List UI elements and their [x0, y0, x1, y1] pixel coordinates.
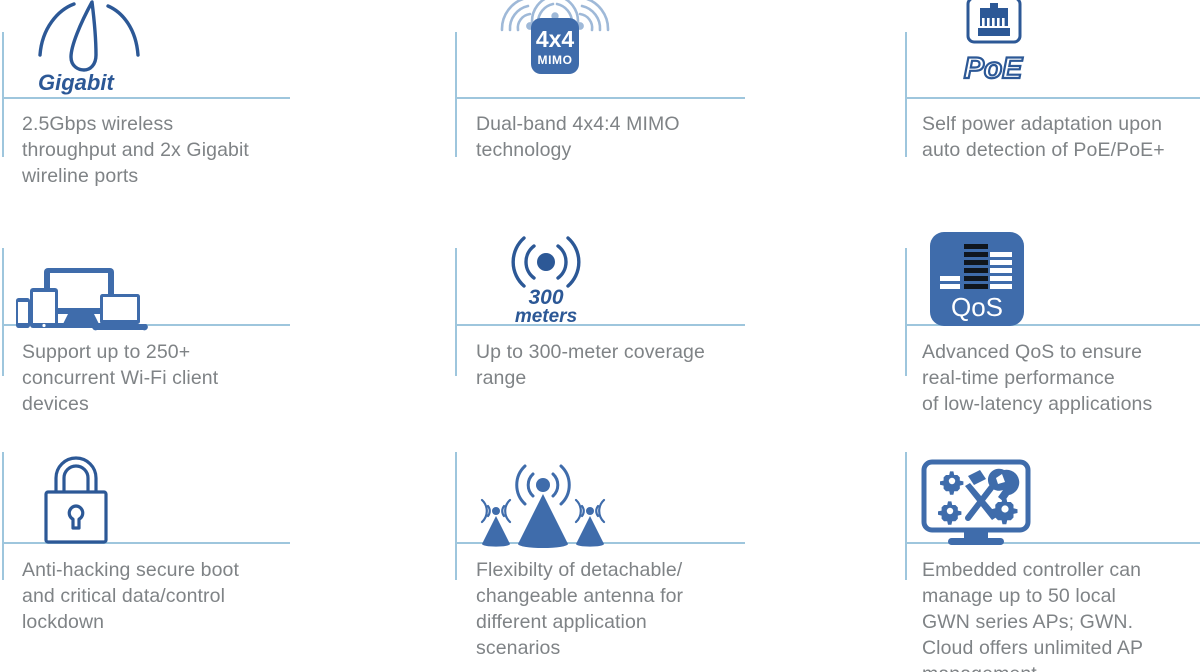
padlock-icon-area [36, 440, 116, 548]
qos-icon-label: QoS [951, 292, 1003, 322]
multi-devices-icon [16, 266, 148, 336]
feature-description: Dual-band 4x4:4 MIMO technology [476, 112, 680, 164]
mimo-icon-label: 4x4 [536, 26, 575, 52]
divider-vertical [2, 32, 4, 157]
divider-vertical [455, 452, 457, 580]
feature-description: Self power adaptation upon auto detectio… [922, 112, 1165, 164]
feature-description: Flexibilty of detachable/ changeable ant… [476, 558, 683, 662]
feature-card-gigabit: Gigabit 2.5Gbps wireless throughput and … [0, 0, 440, 210]
feature-card-controller: Embedded controller can manage up to 50 … [890, 430, 1200, 672]
feature-card-security: Anti-hacking secure boot and critical da… [0, 430, 440, 672]
padlock-icon [36, 452, 116, 548]
feature-description: 2.5Gbps wireless throughput and 2x Gigab… [22, 112, 249, 190]
divider-vertical [905, 32, 907, 157]
divider-horizontal [2, 97, 290, 99]
poe-icon-area: PoE [940, 0, 1050, 86]
qos-icon-area: QoS [930, 218, 1024, 326]
poe-icon-label: PoE [964, 52, 1023, 85]
poe-icon: PoE [940, 0, 1050, 86]
divider-vertical [905, 452, 907, 580]
qos-icon: QoS [930, 232, 1024, 326]
feature-card-poe: PoE Self power adaptation upon auto dete… [890, 0, 1200, 210]
divider-horizontal [455, 97, 745, 99]
antenna-array-icon [470, 456, 616, 552]
feature-grid: Gigabit 2.5Gbps wireless throughput and … [0, 0, 1200, 672]
gigabit-icon-area: Gigabit [30, 0, 148, 92]
coverage-icon-sublabel: meters [515, 306, 577, 327]
antenna-icon-area [470, 444, 616, 552]
divider-vertical [2, 248, 4, 376]
gigabit-icon: Gigabit [30, 0, 148, 92]
feature-description: Advanced QoS to ensure real-time perform… [922, 340, 1152, 418]
mimo-icon-sublabel: MIMO [537, 53, 572, 67]
feature-description: Up to 300-meter coverage range [476, 340, 705, 392]
coverage-icon-area: 300 meters [490, 218, 602, 326]
feature-description: Anti-hacking secure boot and critical da… [22, 558, 239, 636]
multi-devices-icon-area [16, 228, 148, 336]
feature-card-antenna: Flexibilty of detachable/ changeable ant… [440, 430, 890, 672]
gigabit-icon-label: Gigabit [38, 70, 115, 95]
feature-card-client-devices: Support up to 250+ concurrent Wi-Fi clie… [0, 210, 440, 430]
divider-vertical [905, 248, 907, 376]
divider-horizontal [905, 97, 1200, 99]
feature-description: Support up to 250+ concurrent Wi-Fi clie… [22, 340, 218, 418]
divider-vertical [2, 452, 4, 580]
mimo-icon-area: 4x4 MIMO [490, 0, 620, 88]
mimo-4x4-icon: 4x4 MIMO [490, 0, 620, 88]
divider-vertical [455, 32, 457, 157]
controller-monitor-icon [920, 458, 1032, 550]
feature-description: Embedded controller can manage up to 50 … [922, 558, 1143, 672]
coverage-range-icon: 300 meters [490, 230, 602, 326]
feature-card-mimo: 4x4 MIMO Dual-band 4x4:4 MIMO technology [440, 0, 890, 210]
divider-vertical [455, 248, 457, 376]
feature-card-qos: QoS Advanced QoS to ensure real-time per… [890, 210, 1200, 430]
feature-card-coverage: 300 meters Up to 300-meter coverage rang… [440, 210, 890, 430]
controller-icon-area [920, 442, 1032, 550]
